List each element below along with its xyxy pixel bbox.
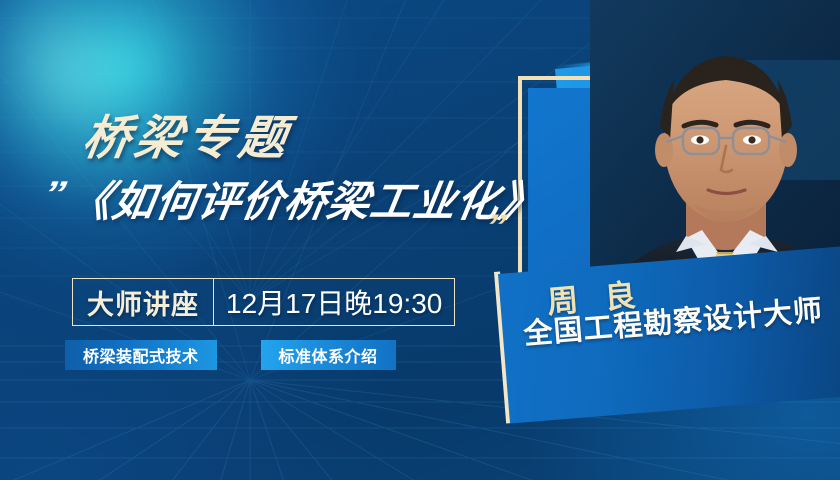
quote-open-icon: ” [42,177,67,211]
lecture-datetime-cell: 12月17日晚19:30 [214,279,454,325]
page-title: 桥梁专题 [79,99,298,168]
lecture-poster: 周 良 全国工程勘察设计大师 桥梁专题 ” 《如何评价桥梁工业化》 ” 大师讲座… [0,0,840,480]
topic-tags: 桥梁装配式技术 标准体系介绍 [65,340,396,370]
lecture-label-cell: 大师讲座 [73,279,214,325]
subtitle-group: ” 《如何评价桥梁工业化》 [44,168,543,229]
topic-tag-1: 桥梁装配式技术 [65,340,217,370]
lecture-info-box: 大师讲座 12月17日晚19:30 [72,278,455,326]
lecture-datetime: 12月17日晚19:30 [226,282,442,322]
subtitle: 《如何评价桥梁工业化》 [65,168,548,229]
lecture-label: 大师讲座 [87,283,199,322]
topic-tag-2: 标准体系介绍 [261,340,396,370]
